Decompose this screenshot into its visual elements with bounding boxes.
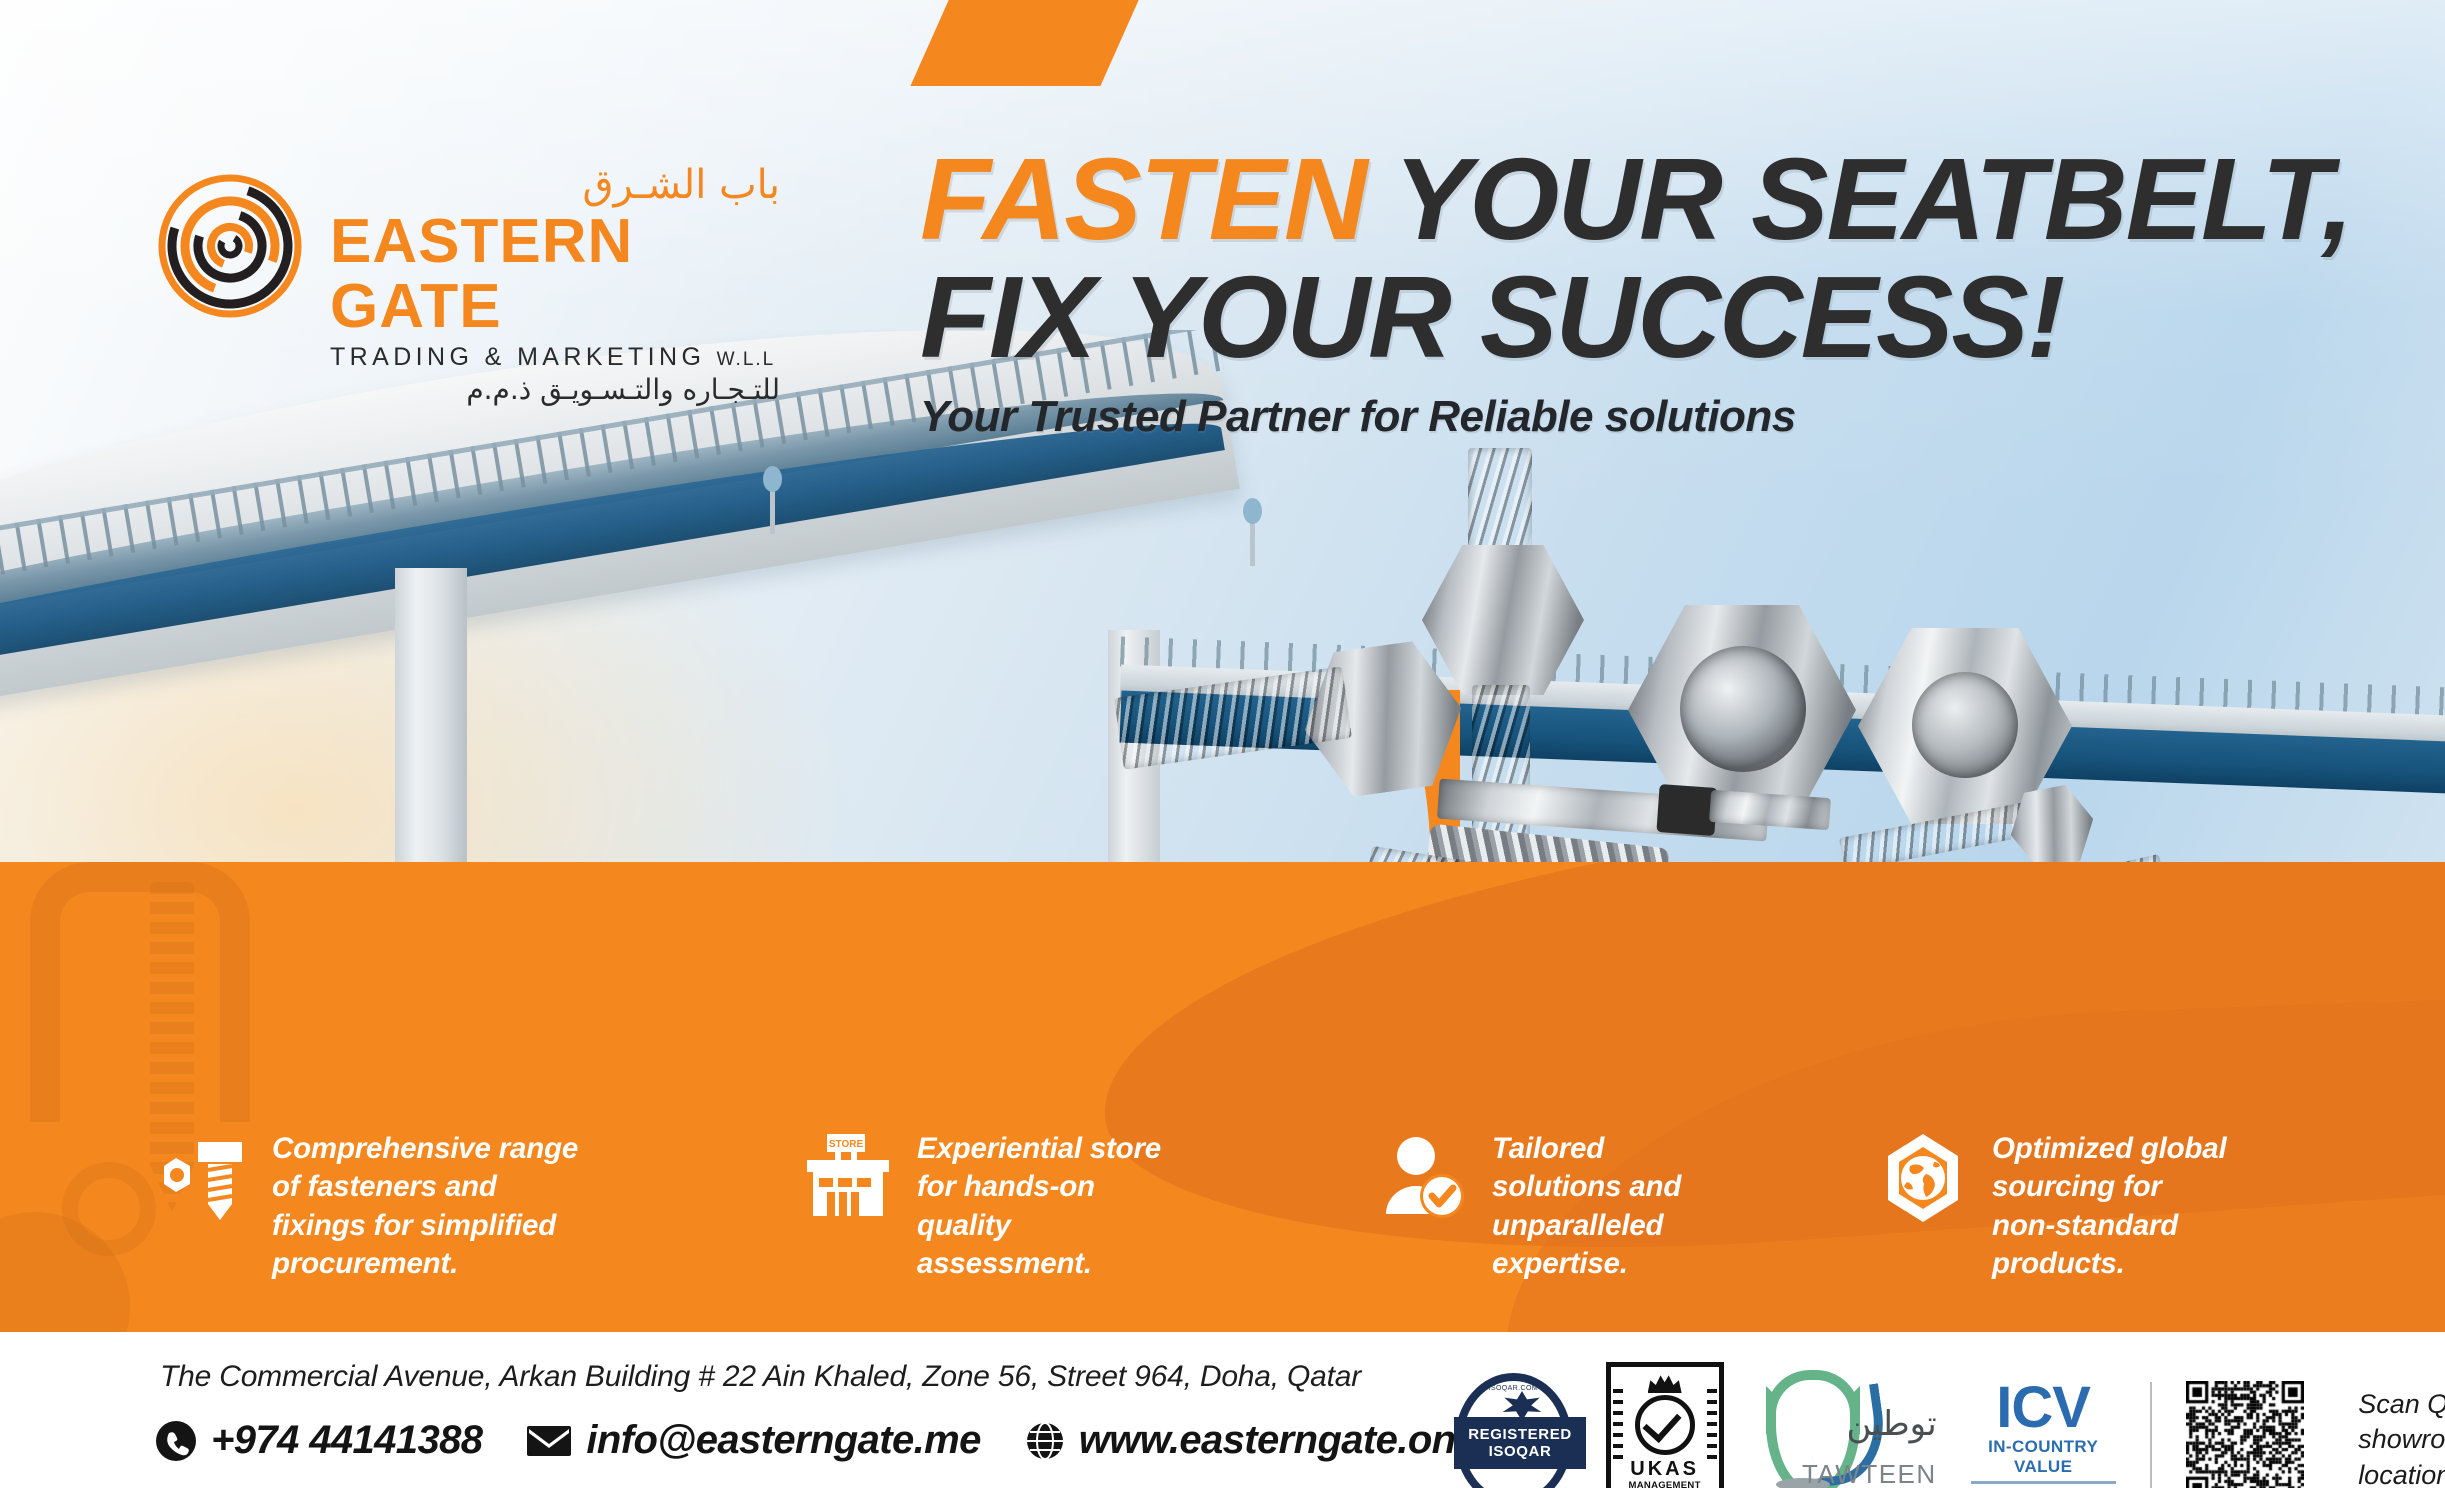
email-contact[interactable]: info@easterngate.me — [526, 1418, 980, 1463]
watermark-bolt-icon — [30, 862, 250, 1122]
logo-tagline-text: TRADING & MARKETING — [330, 343, 705, 371]
ukas-badge-wrap: UKAS MANAGEMENT SYSTEMS 0026 — [1606, 1362, 1724, 1488]
sleeve-anchor-collar — [1656, 784, 1717, 836]
advertisement-banner: باب الشـرق EASTERN GATE TRADING & MARKET… — [0, 0, 2445, 1488]
hex-globe-icon — [1880, 1130, 1966, 1226]
icv-badge: ICV IN-COUNTRY VALUE CERTIFIED — [1971, 1380, 2116, 1488]
headline-line-1: FASTEN YOUR SEATBELT, — [920, 140, 2390, 258]
bolt-thread-top — [1468, 448, 1532, 558]
scan-qr-text: Scan QR for showroom location. — [2358, 1387, 2445, 1488]
nut-and-screw-icon — [160, 1130, 246, 1226]
qr-code[interactable] — [2186, 1381, 2304, 1488]
top-accent-slash — [910, 0, 1139, 86]
phone-icon — [155, 1420, 197, 1462]
feature-item-store: STORE Experiential store for hands — [805, 1130, 1161, 1283]
bridge-pier — [395, 568, 467, 890]
headline-block: FASTEN YOUR SEATBELT, FIX YOUR SUCCESS! — [920, 140, 2390, 377]
headline-line-1-rest: YOUR SEATBELT, — [1366, 134, 2352, 264]
address-text: The Commercial Avenue, Arkan Building # … — [160, 1360, 1361, 1394]
tawteen-arabic: توطين — [1846, 1404, 1936, 1444]
feature-text: Optimized global sourcing for non-standa… — [1992, 1130, 2226, 1283]
email-address: info@easterngate.me — [586, 1418, 980, 1463]
isoqar-badge: ISOQAR.COM REGISTERED ISOQAR REGISTERED — [1455, 1373, 1572, 1488]
feature-text: Experiential store for hands-on quality … — [917, 1130, 1161, 1283]
headline-line-2: FIX YOUR SUCCESS! — [920, 258, 2390, 376]
feature-item-sourcing: Optimized global sourcing for non-standa… — [1880, 1130, 2226, 1283]
person-check-icon — [1380, 1130, 1466, 1226]
isoqar-line-2: ISOQAR — [1489, 1443, 1552, 1460]
globe-icon — [1025, 1421, 1065, 1461]
email-icon — [526, 1424, 572, 1458]
logo-arabic-top: باب الشـرق — [330, 165, 780, 207]
icv-title: ICV — [1971, 1380, 2116, 1435]
logo-company-name: EASTERN GATE — [330, 209, 780, 339]
ukas-check-icon — [1635, 1395, 1695, 1455]
headline-highlight-word: FASTEN — [920, 134, 1366, 264]
subheadline: Your Trusted Partner for Reliable soluti… — [920, 392, 1796, 442]
isoqar-label-bar: REGISTERED ISOQAR — [1454, 1417, 1586, 1469]
ukas-badge: UKAS MANAGEMENT SYSTEMS — [1606, 1362, 1724, 1488]
phone-number: +974 44141388 — [211, 1418, 482, 1463]
hex-nut-right-bore — [1912, 672, 2018, 778]
isoqar-line-1: REGISTERED — [1468, 1426, 1572, 1443]
badge-divider — [2150, 1382, 2153, 1488]
logo-tagline: TRADING & MARKETING W.L.L — [330, 343, 780, 372]
tawteen-badge: توطين TAWTEEN — [1758, 1382, 1937, 1488]
feature-list: Comprehensive range of fasteners and fix… — [0, 1130, 2445, 1340]
certification-badges: ISOQAR.COM REGISTERED ISOQAR REGISTERED … — [1455, 1362, 2445, 1488]
hex-nut-upper — [1422, 545, 1584, 695]
icv-subtitle: IN-COUNTRY VALUE — [1971, 1437, 2116, 1484]
feature-item-fasteners: Comprehensive range of fasteners and fix… — [160, 1130, 578, 1283]
feature-item-solutions: Tailored solutions and unparalleled expe… — [1380, 1130, 1681, 1283]
hex-nut-large-bore — [1680, 646, 1806, 772]
logo-arabic-bottom: للتـجـاره والتـسـويـق ذ.م.م — [330, 373, 780, 406]
road-sign — [770, 480, 775, 534]
ukas-crown-icon — [1648, 1373, 1682, 1393]
store-icon: STORE — [805, 1130, 891, 1226]
website-contact[interactable]: www.easterngate.online — [1025, 1418, 1522, 1463]
contact-row: +974 44141388 info@easterngate.me — [155, 1418, 1522, 1463]
feature-text: Tailored solutions and unparalleled expe… — [1492, 1130, 1681, 1283]
phone-contact[interactable]: +974 44141388 — [155, 1418, 482, 1463]
tawteen-english: TAWTEEN — [1802, 1459, 1937, 1488]
isoqar-micro-top: ISOQAR.COM — [1463, 1385, 1564, 1392]
company-logo[interactable]: باب الشـرق EASTERN GATE TRADING & MARKET… — [155, 165, 775, 355]
ukas-sub-1: MANAGEMENT — [1629, 1481, 1701, 1488]
svg-text:STORE: STORE — [829, 1139, 864, 1150]
feature-text: Comprehensive range of fasteners and fix… — [272, 1130, 578, 1283]
logo-entity-text: W.L.L — [717, 349, 776, 370]
spiral-target-logo-icon — [155, 171, 305, 321]
